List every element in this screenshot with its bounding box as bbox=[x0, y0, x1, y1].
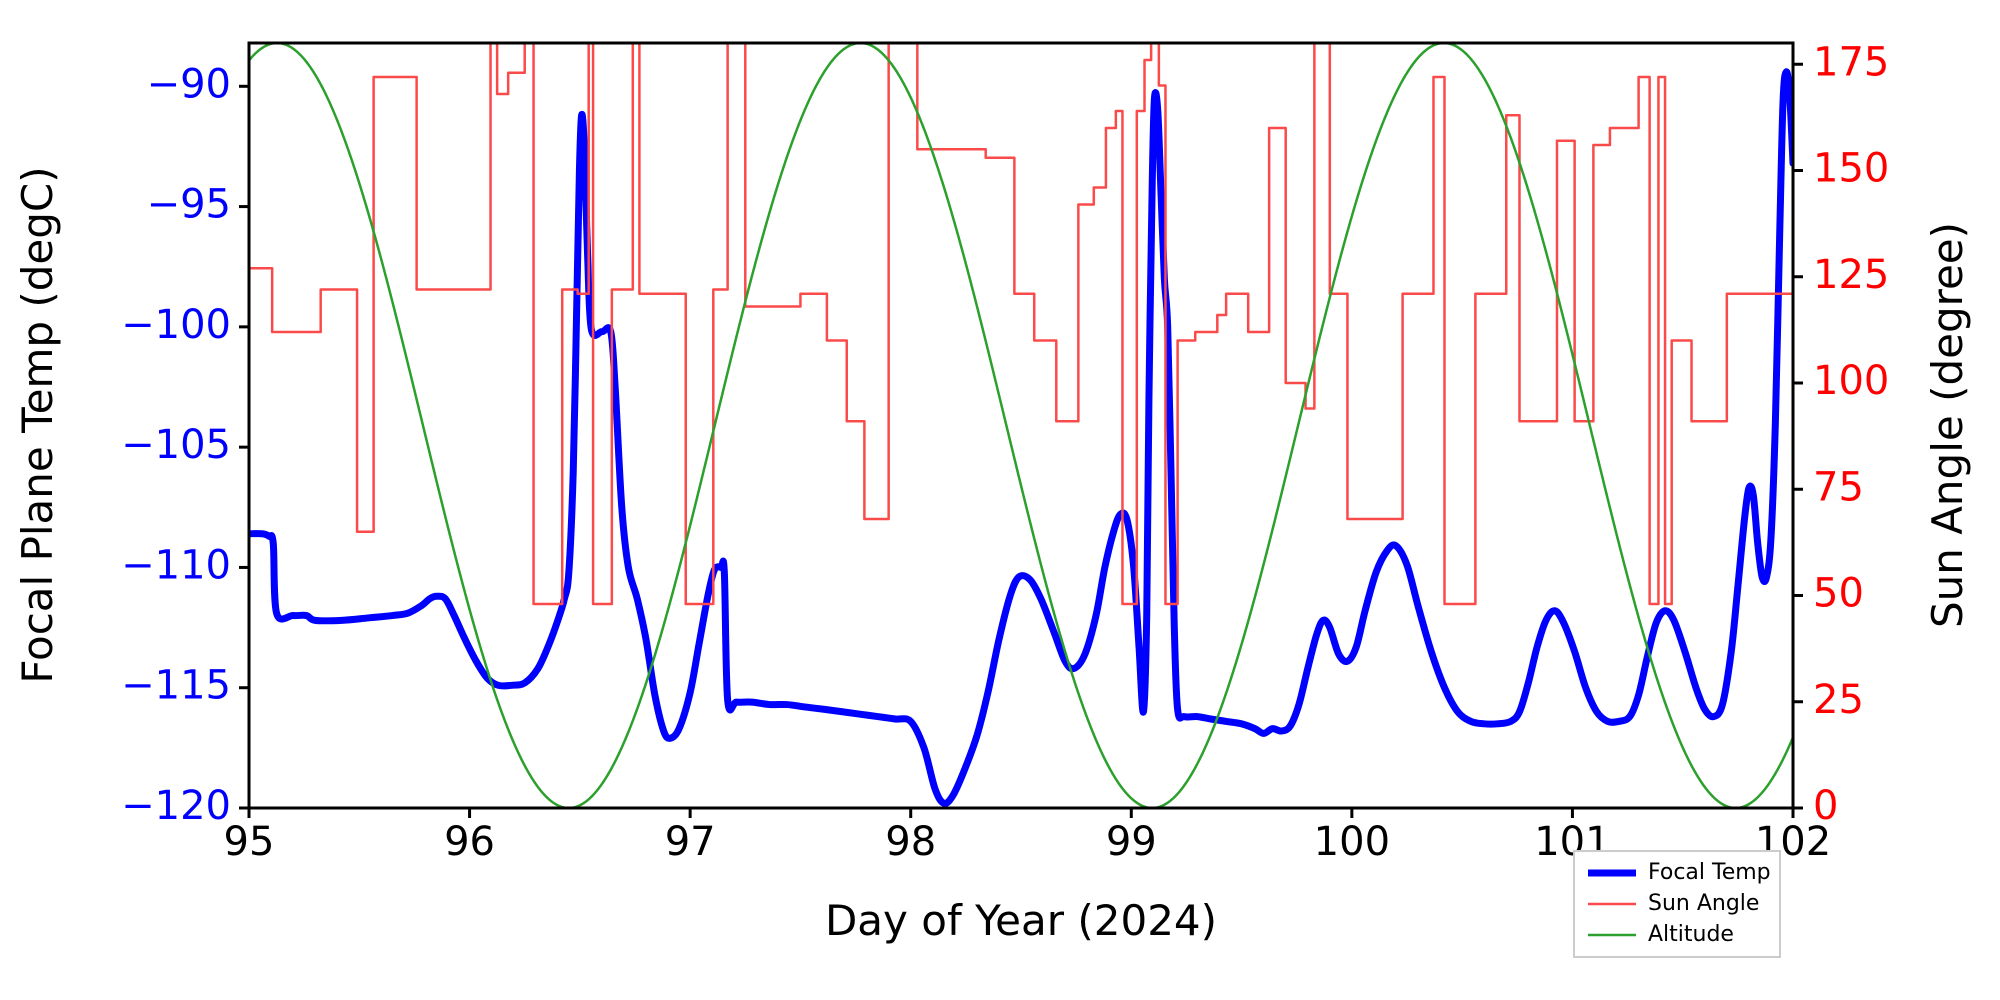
y-right-tick-label: 150 bbox=[1813, 146, 1889, 192]
legend-label-sun-angle: Sun Angle bbox=[1648, 891, 1759, 916]
y-axis-right-label: Sun Angle (degree) bbox=[1923, 222, 1972, 628]
y-left-tick-label: −115 bbox=[121, 663, 231, 709]
x-tick-label-99: 99 bbox=[1106, 819, 1157, 865]
x-tick-label-96: 96 bbox=[444, 819, 495, 865]
y-left-tick-label: −100 bbox=[121, 302, 231, 348]
legend-label-focal-temp: Focal Temp bbox=[1648, 860, 1771, 885]
y-right-tick-label: 25 bbox=[1813, 677, 1864, 723]
x-tick-label-98: 98 bbox=[885, 819, 936, 865]
y-left-tick-label: −105 bbox=[121, 422, 231, 468]
y-left-tick-label: −110 bbox=[121, 542, 231, 588]
y-left-tick-label: −90 bbox=[147, 61, 231, 107]
chart-canvas: 9596979899100101102−90−95−100−105−110−11… bbox=[0, 0, 2000, 1000]
x-tick-label-97: 97 bbox=[665, 819, 716, 865]
y-right-tick-label: 125 bbox=[1813, 252, 1889, 298]
x-tick-label-95: 95 bbox=[224, 819, 275, 865]
y-left-tick-label: −95 bbox=[147, 182, 231, 228]
chart-figure: 9596979899100101102−90−95−100−105−110−11… bbox=[0, 0, 2000, 1000]
y-right-tick-label: 100 bbox=[1813, 358, 1889, 404]
plot-area-background bbox=[249, 43, 1793, 808]
y-right-tick-label: 175 bbox=[1813, 39, 1889, 85]
legend-label-altitude: Altitude bbox=[1648, 922, 1734, 947]
x-axis-label: Day of Year (2024) bbox=[825, 896, 1217, 945]
y-axis-left-label: Focal Plane Temp (degC) bbox=[13, 166, 62, 683]
y-left-tick-label: −120 bbox=[121, 783, 231, 829]
y-right-tick-label: 75 bbox=[1813, 464, 1864, 510]
x-tick-label-100: 100 bbox=[1314, 819, 1390, 865]
y-right-tick-label: 0 bbox=[1813, 783, 1838, 829]
y-right-tick-label: 50 bbox=[1813, 571, 1864, 617]
legend[interactable]: Focal TempSun AngleAltitude bbox=[1574, 851, 1780, 957]
